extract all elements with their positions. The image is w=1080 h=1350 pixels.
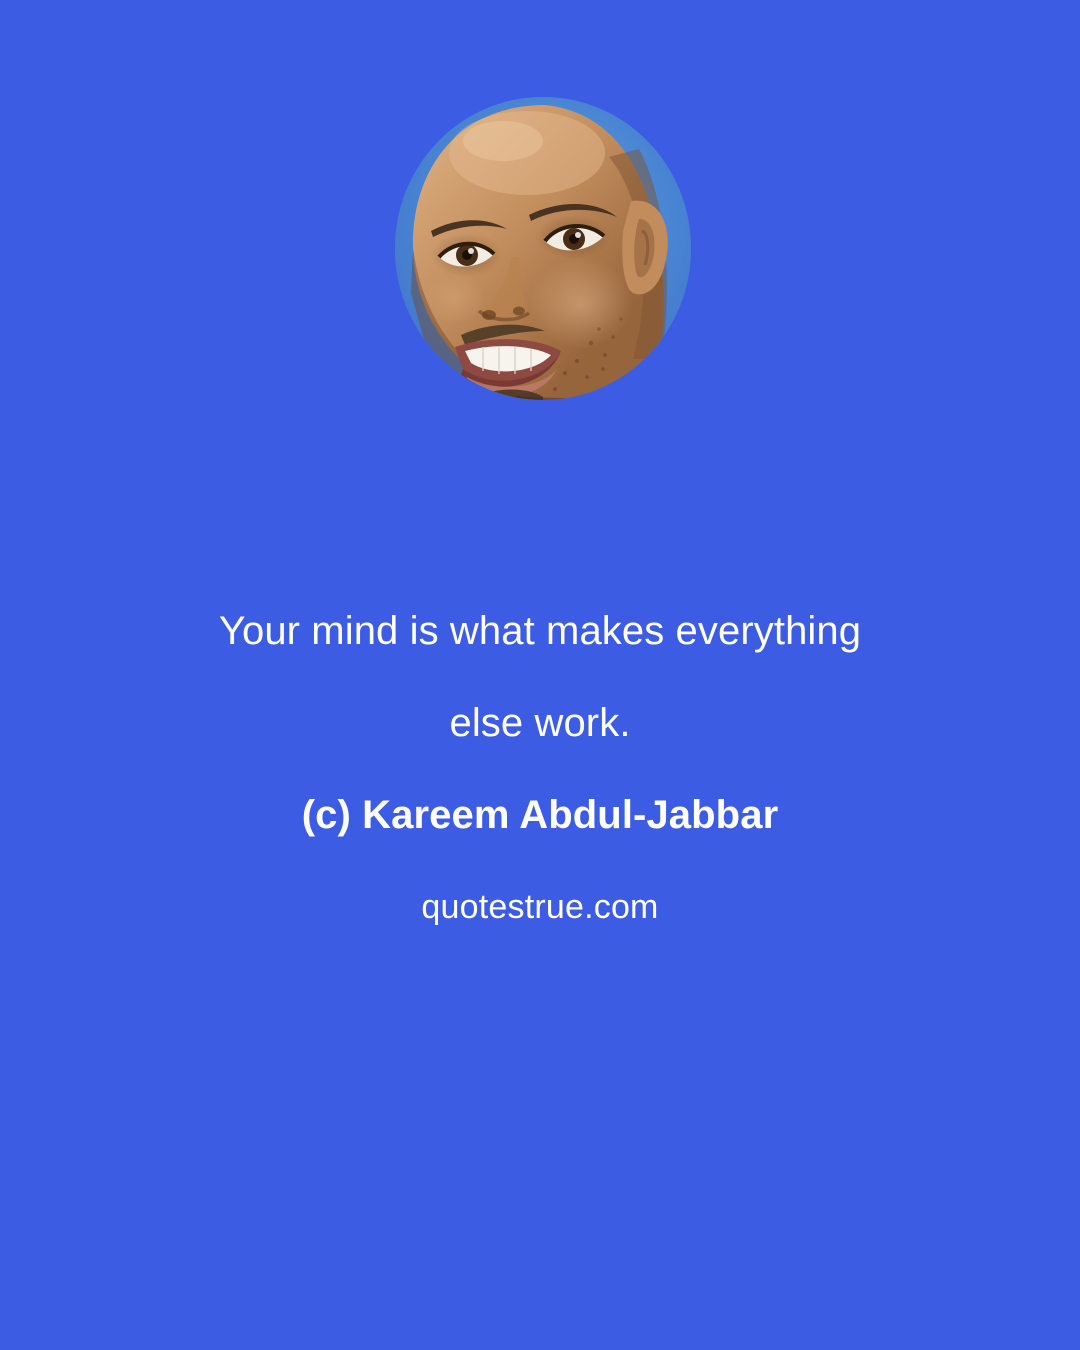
person-portrait-photo-icon: [395, 97, 691, 400]
portrait-photo: [395, 97, 691, 400]
attribution-author: (c) Kareem Abdul-Jabbar: [0, 769, 1080, 861]
avatar: [395, 97, 691, 400]
quote-line-2: else work.: [0, 677, 1080, 769]
quote-card-text: Your mind is what makes everything else …: [0, 585, 1080, 953]
quote-line-1: Your mind is what makes everything: [0, 585, 1080, 677]
source-website: quotestrue.com: [0, 861, 1080, 953]
